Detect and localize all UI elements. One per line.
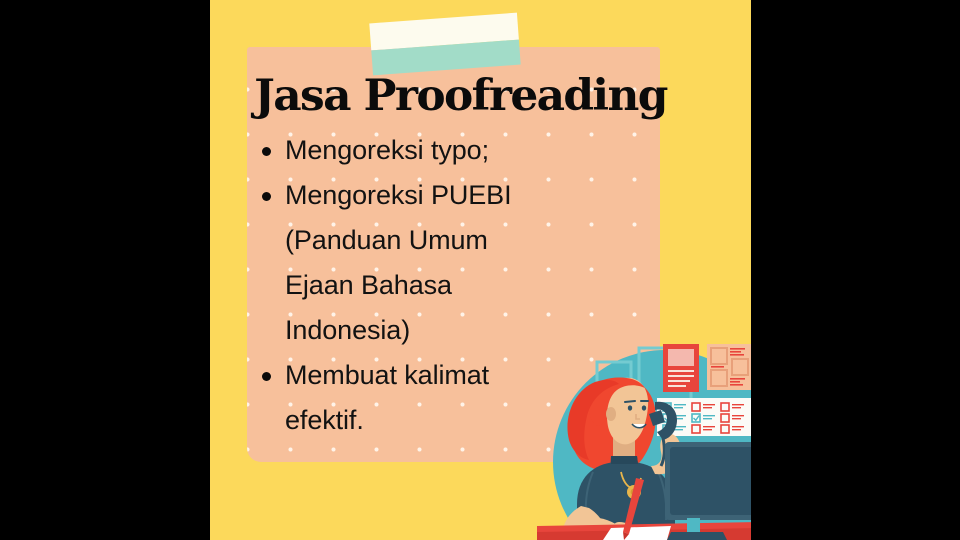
list-item: Mengoreksi typo; bbox=[285, 128, 660, 173]
poster-background: Jasa Proofreading Mengoreksi typo; Mengo… bbox=[210, 0, 751, 540]
letterbox-left bbox=[0, 0, 210, 540]
list-item: (Panduan Umum bbox=[285, 218, 660, 263]
letterbox-right bbox=[751, 0, 960, 540]
washi-tape bbox=[369, 13, 520, 76]
notes-board bbox=[707, 344, 751, 390]
red-poster bbox=[663, 344, 699, 392]
poster-canvas: Jasa Proofreading Mengoreksi typo; Mengo… bbox=[0, 0, 960, 540]
list-item: Ejaan Bahasa bbox=[285, 263, 660, 308]
woman-on-phone-illustration bbox=[537, 322, 751, 540]
paper bbox=[603, 526, 671, 540]
list-item: Mengoreksi PUEBI bbox=[285, 173, 660, 218]
